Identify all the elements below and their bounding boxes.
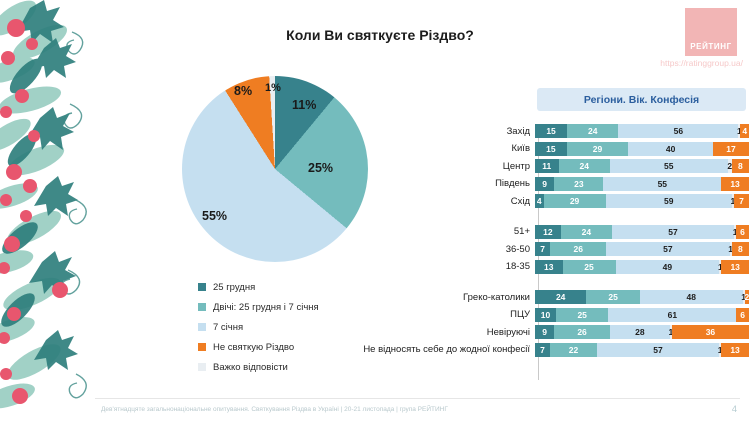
bar-segment-value: 36	[706, 327, 715, 337]
bar-row-label: 51+	[360, 226, 535, 237]
legend-item-label: 25 грудня	[213, 282, 255, 293]
bar-row: Греко-католики24254812	[360, 290, 752, 304]
bar-segment: 13	[535, 260, 563, 274]
holly-decoration-border	[0, 0, 108, 425]
bar-segment: 28	[610, 325, 670, 339]
bar-segment: 25	[556, 308, 608, 322]
legend-item-label: 7 січня	[213, 322, 243, 333]
footer-divider	[95, 398, 740, 399]
bar-segment-value: 48	[686, 292, 695, 302]
bar-segment: 57	[606, 242, 729, 256]
bar-row: Невіруючі92628136	[360, 325, 752, 339]
bar-segment-value: 59	[664, 196, 673, 206]
legend-item[interactable]: Важко відповісти	[198, 357, 319, 377]
bar-segment-value: 7	[540, 345, 545, 355]
bar-row: Не відносять себе до жодної конфесії7225…	[360, 343, 752, 357]
legend-item-label: Не святкую Різдво	[213, 342, 294, 353]
bar-segment-value: 24	[579, 161, 588, 171]
pie-slice-label-2: 55%	[202, 209, 227, 223]
bar-row: ПЦУ1025616	[360, 308, 752, 322]
legend-item[interactable]: 7 січня	[198, 317, 319, 337]
bar-row-label: Невіруючі	[360, 327, 535, 338]
pie-slice-label-4: 1%	[265, 82, 281, 94]
bar-segment: 13	[721, 343, 749, 357]
bar-segment-value: 24	[582, 227, 591, 237]
bar-segment-value: 57	[663, 244, 672, 254]
bar-segment: 26	[554, 325, 610, 339]
bar-segment-value: 28	[635, 327, 644, 337]
page-number: 4	[732, 404, 737, 415]
site-url-link[interactable]: https://ratinggroup.ua/	[660, 58, 743, 68]
bar-segment-value: 57	[668, 227, 677, 237]
bar-segment-value: 15	[546, 144, 555, 154]
bar-segment: 24	[535, 290, 586, 304]
legend-swatch-icon	[198, 363, 206, 371]
bar-segment-value: 25	[584, 262, 593, 272]
bar-row: Центр11245528	[360, 159, 752, 173]
bar-row: 18-35132549113	[360, 260, 752, 274]
bar-segment: 24	[559, 159, 610, 173]
bar-row: Схід4295917	[360, 194, 752, 208]
bar-segment-value: 24	[588, 126, 597, 136]
pie-chart-legend: 25 грудняДвічі: 25 грудня і 7 січня7 січ…	[198, 277, 319, 377]
bar-row-label: Не відносять себе до жодної конфесії	[360, 344, 535, 355]
bar-segment-value: 2	[744, 292, 749, 302]
bar-segment: 12	[535, 225, 561, 239]
bar-segment: 13	[721, 177, 749, 191]
bar-segment: 24	[567, 124, 618, 138]
bar-segment-value: 8	[738, 244, 743, 254]
bar-segment-value: 49	[663, 262, 672, 272]
bar-segment: 11	[535, 159, 559, 173]
bar-row-label: Греко-католики	[360, 292, 535, 303]
bar-segment-value: 9	[542, 327, 547, 337]
bar-segment: 48	[640, 290, 743, 304]
legend-item[interactable]: Двічі: 25 грудня і 7 січня	[198, 297, 319, 317]
bar-segment-value: 29	[593, 144, 602, 154]
pie-chart: 11% 25% 55% 8% 1%	[182, 76, 370, 266]
bar-segment: 40	[628, 142, 713, 156]
legend-item-label: Важко відповісти	[213, 362, 288, 373]
bar-segment: 56	[618, 124, 738, 138]
bar-row: 51+12245716	[360, 225, 752, 239]
bar-segment: 9	[535, 177, 554, 191]
bar-segment: 26	[550, 242, 606, 256]
bar-row-label: Київ	[360, 143, 535, 154]
bar-track: 92628136	[535, 325, 749, 339]
bar-segment: 6	[736, 308, 749, 322]
bar-segment-value: 13	[730, 179, 739, 189]
bar-segment-value: 26	[577, 327, 586, 337]
bar-segment: 10	[535, 308, 556, 322]
legend-swatch-icon	[198, 343, 206, 351]
bar-row: Південь9235513	[360, 177, 752, 191]
bar-segment-value: 15	[546, 126, 555, 136]
bar-segment: 7	[535, 242, 550, 256]
rating-group-logo: РЕЙТИНГ	[685, 8, 737, 56]
bar-track: 15245614	[535, 124, 749, 138]
bar-segment-value: 17	[726, 144, 735, 154]
bar-track: 4295917	[535, 194, 749, 208]
bar-segment: 8	[732, 159, 749, 173]
bar-segment: 15	[535, 142, 567, 156]
bar-segment-value: 25	[608, 292, 617, 302]
legend-item[interactable]: Не святкую Різдво	[198, 337, 319, 357]
bar-segment: 29	[544, 194, 606, 208]
bar-segment-value: 22	[569, 345, 578, 355]
bar-segment: 6	[736, 225, 749, 239]
pie-slice-label-1: 25%	[308, 161, 333, 175]
bar-segment: 25	[586, 290, 640, 304]
bar-segment-value: 4	[742, 126, 747, 136]
legend-item[interactable]: 25 грудня	[198, 277, 319, 297]
panel-header-label: Регіони. Вік. Конфесія	[584, 94, 699, 106]
bar-segment-value: 4	[537, 196, 542, 206]
bar-segment-value: 6	[740, 310, 745, 320]
bar-segment: 2	[745, 290, 749, 304]
page-title: Коли Ви святкуєте Різдво?	[120, 27, 640, 43]
bar-track: 15294017	[535, 142, 749, 156]
bar-segment: 25	[563, 260, 616, 274]
bar-track: 9235513	[535, 177, 749, 191]
pie-slice-label-3: 8%	[234, 84, 252, 98]
bar-segment: 22	[550, 343, 597, 357]
bar-segment-value: 55	[658, 179, 667, 189]
bar-track: 12245716	[535, 225, 749, 239]
bar-row-label: 18-35	[360, 261, 535, 272]
bar-row: Захід15245614	[360, 124, 752, 138]
bar-row-label: 36-50	[360, 244, 535, 255]
bar-segment: 55	[610, 159, 728, 173]
panel-header: Регіони. Вік. Конфесія	[537, 88, 746, 111]
bar-track: 132549113	[535, 260, 749, 274]
bar-segment: 59	[606, 194, 732, 208]
footer-source-text: Дев'ятнадцяте загальнонаціональне опитув…	[101, 406, 448, 413]
bar-row-label: Захід	[360, 126, 535, 137]
bar-segment: 24	[561, 225, 612, 239]
bar-segment-value: 25	[577, 310, 586, 320]
bar-segment-value: 24	[556, 292, 565, 302]
bar-segment: 57	[597, 343, 719, 357]
bar-segment-value: 40	[666, 144, 675, 154]
bar-row: 36-507265718	[360, 242, 752, 256]
legend-swatch-icon	[198, 323, 206, 331]
bar-segment: 23	[554, 177, 603, 191]
bar-segment: 29	[567, 142, 628, 156]
bar-track: 7265718	[535, 242, 749, 256]
bar-segment-value: 13	[730, 345, 739, 355]
bar-segment: 55	[603, 177, 721, 191]
bar-segment: 36	[672, 325, 749, 339]
bar-track: 1025616	[535, 308, 749, 322]
bar-segment: 9	[535, 325, 554, 339]
legend-swatch-icon	[198, 303, 206, 311]
bar-track: 24254812	[535, 290, 749, 304]
bar-segment: 4	[535, 194, 544, 208]
bar-segment: 49	[616, 260, 720, 274]
bar-segment-value: 26	[573, 244, 582, 254]
pie-slice-label-0: 11%	[292, 98, 316, 112]
bar-segment-value: 11	[542, 161, 551, 171]
bar-segment: 61	[608, 308, 736, 322]
bar-segment: 8	[732, 242, 749, 256]
bar-row-label: Південь	[360, 178, 535, 189]
bar-segment-value: 29	[570, 196, 579, 206]
pie-chart-shape	[182, 76, 368, 262]
bar-segment-value: 9	[542, 179, 547, 189]
bar-row-label: Центр	[360, 161, 535, 172]
bar-segment-value: 10	[541, 310, 550, 320]
bar-segment: 15	[535, 124, 567, 138]
bar-segment-value: 8	[738, 161, 743, 171]
legend-item-label: Двічі: 25 грудня і 7 січня	[213, 302, 319, 313]
bar-segment-value: 55	[664, 161, 673, 171]
bar-segment-value: 6	[740, 227, 745, 237]
bar-row-label: Схід	[360, 196, 535, 207]
bar-segment-value: 13	[730, 262, 739, 272]
bar-segment-value: 13	[544, 262, 553, 272]
bar-segment: 13	[721, 260, 749, 274]
bar-track: 72257113	[535, 343, 749, 357]
bar-segment: 57	[612, 225, 734, 239]
bar-segment-value: 61	[668, 310, 677, 320]
bar-segment-value: 7	[540, 244, 545, 254]
bar-row-label: ПЦУ	[360, 309, 535, 320]
bar-segment: 7	[535, 343, 550, 357]
bar-segment: 17	[713, 142, 749, 156]
legend-swatch-icon	[198, 283, 206, 291]
logo-label: РЕЙТИНГ	[690, 42, 732, 51]
bar-segment: 4	[740, 124, 749, 138]
bar-segment-value: 12	[543, 227, 552, 237]
bar-track: 11245528	[535, 159, 749, 173]
bar-segment: 7	[734, 194, 749, 208]
stacked-bar-chart: Захід15245614Київ15294017Центр11245528Пі…	[360, 122, 752, 384]
bar-row: Київ15294017	[360, 142, 752, 156]
bar-segment-value: 23	[574, 179, 583, 189]
bar-segment-value: 56	[674, 126, 683, 136]
bar-segment-value: 7	[739, 196, 744, 206]
bar-segment-value: 57	[653, 345, 662, 355]
